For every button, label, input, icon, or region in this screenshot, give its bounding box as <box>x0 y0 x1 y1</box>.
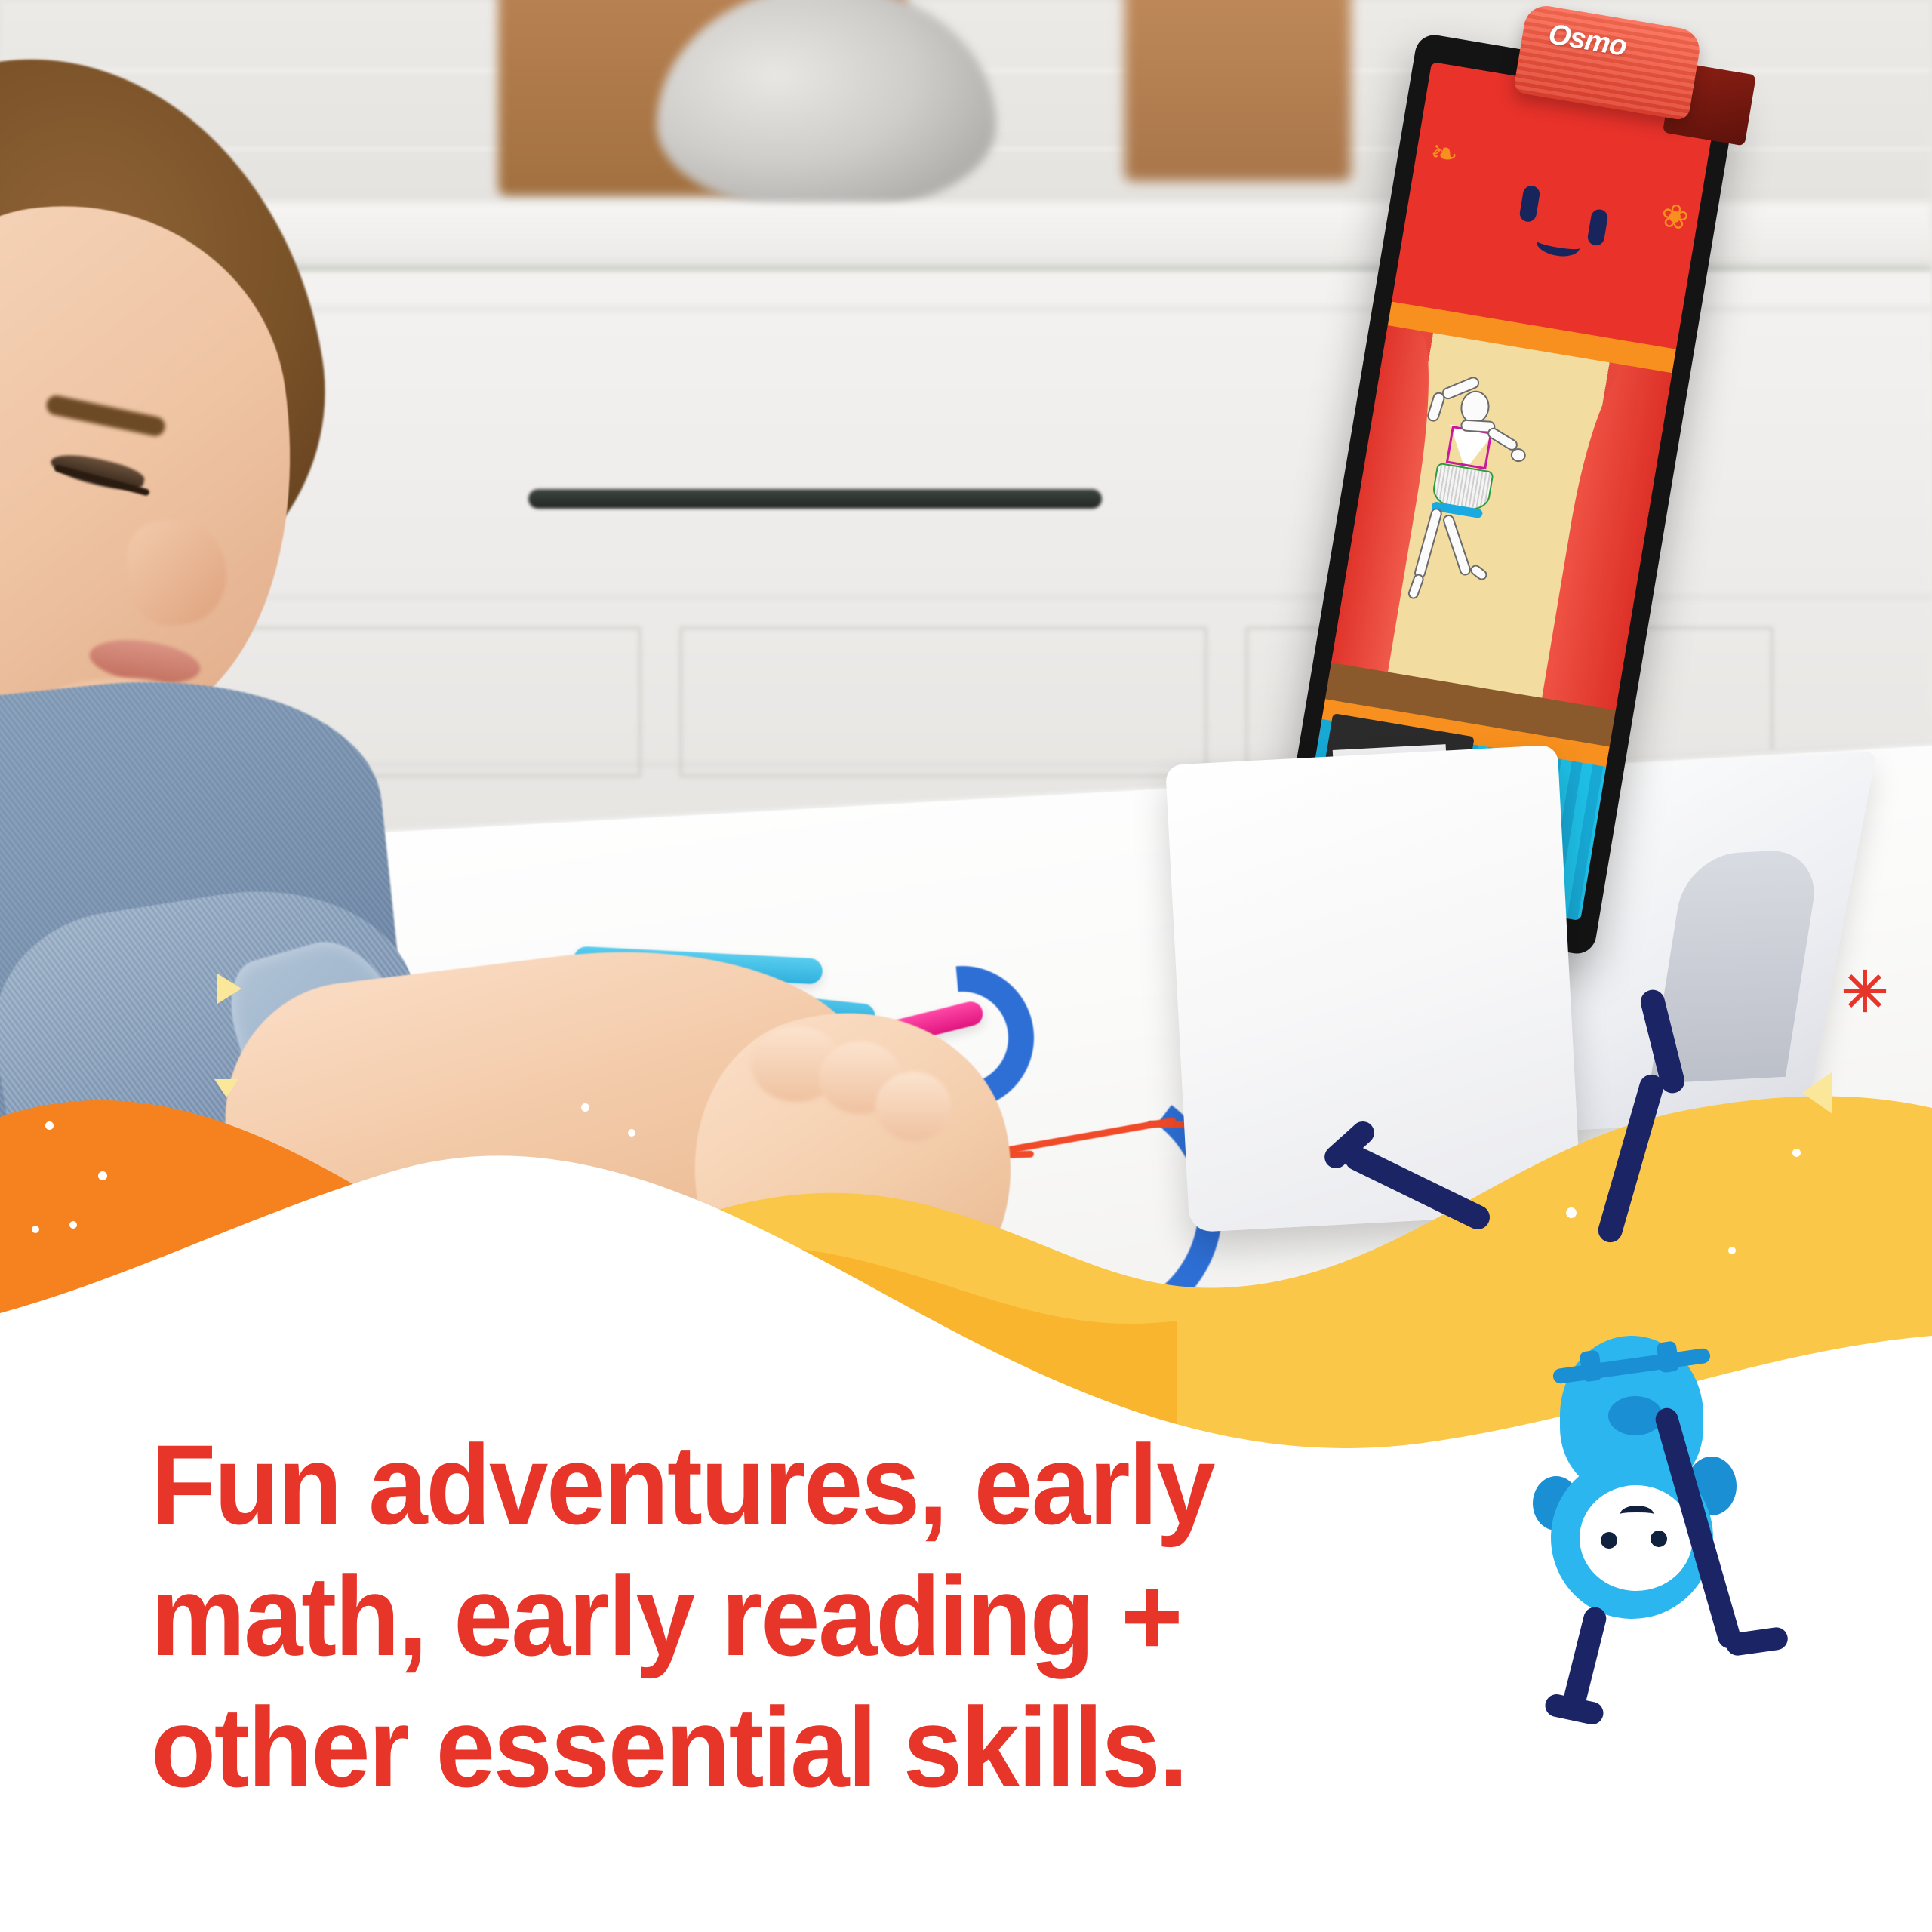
sparkle-dot <box>1792 1149 1801 1157</box>
mascot-eye-right <box>1651 1531 1667 1547</box>
swirl-icon-left: ❧ <box>1428 136 1461 173</box>
sparkle-dot <box>69 1221 77 1229</box>
sparkle-dot <box>581 1103 589 1112</box>
sparkle-dot <box>32 1226 39 1233</box>
mascot-mouth <box>1620 1506 1654 1522</box>
mascot-belly-dot <box>1608 1396 1663 1435</box>
mascot-face <box>1580 1485 1693 1591</box>
triangle-decoration <box>1802 1072 1832 1114</box>
mascot-eye-left <box>1601 1532 1617 1549</box>
swirl-icon-right: ❀ <box>1658 198 1691 235</box>
sparkle-dot <box>98 1171 107 1180</box>
triangle-decoration <box>214 1079 238 1097</box>
headline-line-1: Fun adventures, early <box>151 1419 1357 1550</box>
sparkle-dot <box>45 1121 54 1130</box>
osmo-mascot <box>1460 1207 1883 1736</box>
headline-line-2: math, early reading + <box>151 1550 1357 1681</box>
sparkle-dot <box>628 1129 635 1137</box>
marketing-banner: ❧ ❀ <box>0 0 1932 1932</box>
starburst-icon: ✳ <box>1841 964 1888 1020</box>
headline-block: Fun adventures, early math, early readin… <box>151 1419 1434 1813</box>
triangle-decoration <box>217 974 241 1004</box>
headline-line-3: other essential skills. <box>151 1681 1357 1813</box>
